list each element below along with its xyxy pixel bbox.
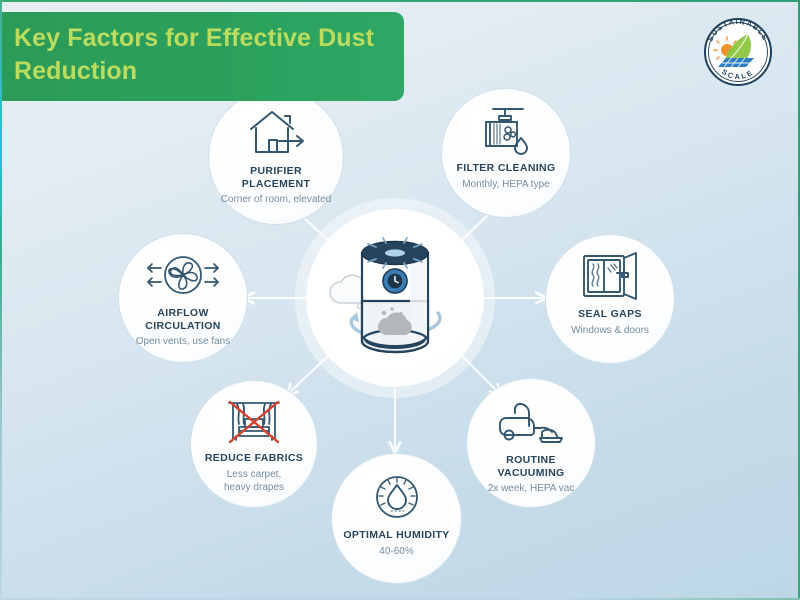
node-title: ROUTINE VACUUMING xyxy=(467,454,595,479)
edge-stripe-left xyxy=(0,0,2,600)
node-title: PURIFIER PLACEMENT xyxy=(209,165,343,190)
edge-stripe-top xyxy=(0,0,800,2)
crossed-out-bed-drapes-icon xyxy=(223,395,285,449)
node-title: AIRFLOW CIRCULATION xyxy=(119,307,247,332)
node-optimal-humidity[interactable]: OPTIMAL HUMIDITY 40-60% xyxy=(331,453,462,584)
filter-washing-icon xyxy=(477,103,535,157)
node-purifier-placement[interactable]: PURIFIER PLACEMENT Corner of room, eleva… xyxy=(208,89,344,225)
node-subtitle: 40-60% xyxy=(369,545,423,558)
infographic-canvas: PURIFIER PLACEMENT Corner of room, eleva… xyxy=(0,0,800,600)
node-title: SEAL GAPS xyxy=(572,308,648,321)
vacuum-cleaner-icon xyxy=(498,395,564,449)
air-purifier-illustration xyxy=(306,209,484,387)
node-subtitle: 2x week, HEPA vac xyxy=(478,482,585,495)
window-icon xyxy=(579,249,641,303)
node-filter-cleaning[interactable]: FILTER CLEANING Monthly, HEPA type xyxy=(441,88,571,218)
node-subtitle: Less carpet, heavy drapes xyxy=(214,468,294,494)
node-subtitle: Windows & doors xyxy=(561,324,659,337)
page-title: Key Factors for Effective Dust Reduction xyxy=(14,22,386,89)
humidity-gauge-droplet-icon xyxy=(372,470,422,524)
node-subtitle: Open vents, use fans xyxy=(126,335,241,348)
node-airflow-circulation[interactable]: AIRFLOW CIRCULATION Open vents, use fans xyxy=(118,233,248,363)
node-title: REDUCE FABRICS xyxy=(199,452,309,465)
purifier-body xyxy=(362,238,428,352)
node-title: FILTER CLEANING xyxy=(451,162,562,175)
node-subtitle: Monthly, HEPA type xyxy=(452,178,559,191)
node-reduce-fabrics[interactable]: REDUCE FABRICS Less carpet, heavy drapes xyxy=(190,380,318,508)
house-with-arrow-icon xyxy=(245,106,307,160)
sustainable-scale-logo: SUSTAINABLE SCALE xyxy=(696,10,780,94)
title-banner: Key Factors for Effective Dust Reduction xyxy=(0,12,404,101)
node-title: OPTIMAL HUMIDITY xyxy=(337,529,455,542)
center-hub xyxy=(306,209,484,387)
node-subtitle: Corner of room, elevated xyxy=(211,193,342,206)
node-seal-gaps[interactable]: SEAL GAPS Windows & doors xyxy=(545,234,675,364)
fan-with-arrows-icon xyxy=(145,248,221,302)
node-routine-vacuuming[interactable]: ROUTINE VACUUMING 2x week, HEPA vac xyxy=(466,378,596,508)
